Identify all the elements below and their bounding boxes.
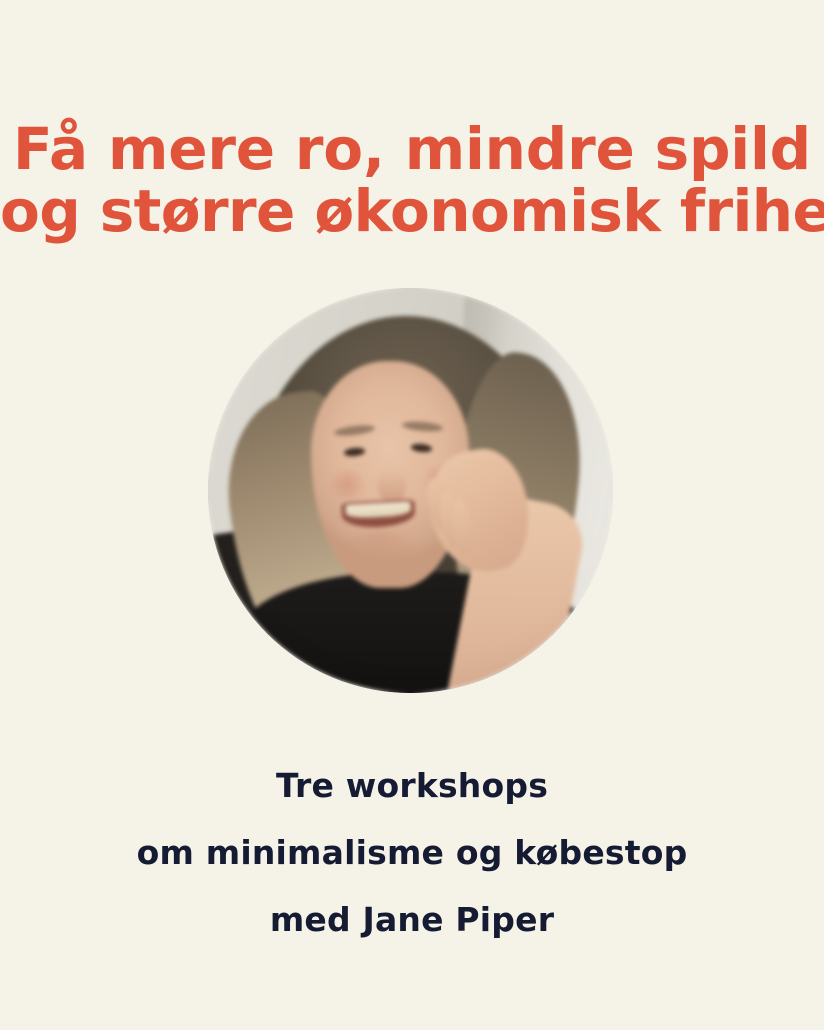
subtitle: Tre workshops om minimalisme og købestop… <box>0 752 824 953</box>
photo-teeth <box>345 501 410 518</box>
portrait-image <box>208 288 613 693</box>
headline: Få mere ro, mindre spild og større økono… <box>0 118 824 242</box>
headline-line-2: og større økonomisk frihed <box>0 180 824 242</box>
headline-line-1: Få mere ro, mindre spild <box>0 118 824 180</box>
poster-canvas: Få mere ro, mindre spild og større økono… <box>0 0 824 1030</box>
subtitle-line-3: med Jane Piper <box>0 886 824 953</box>
subtitle-line-1: Tre workshops <box>0 752 824 819</box>
portrait-photo <box>208 288 613 693</box>
photo-cheek-left <box>325 470 370 498</box>
photo-nose <box>378 470 406 502</box>
photo-chin <box>342 531 419 567</box>
subtitle-line-2: om minimalisme og købestop <box>0 819 824 886</box>
